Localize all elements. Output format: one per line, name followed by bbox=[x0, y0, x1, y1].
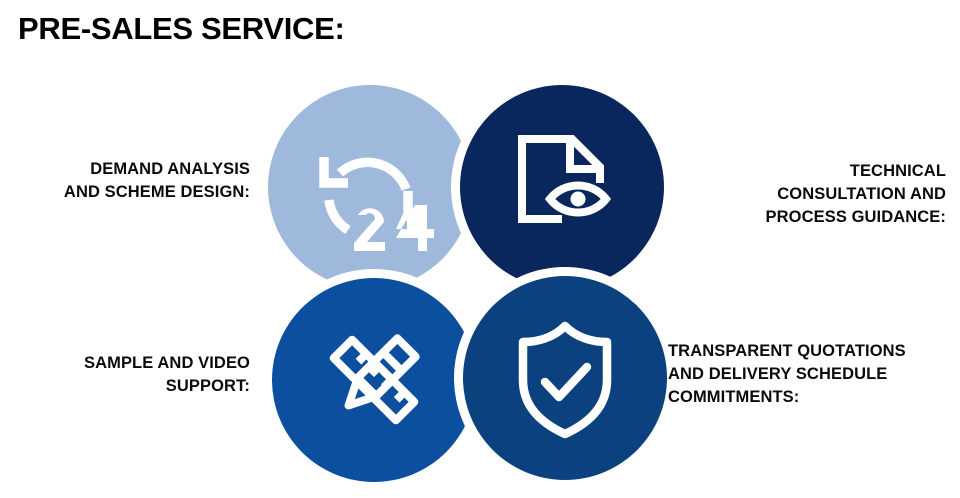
label-transparent-quotations: TRANSPARENT QUOTATIONS AND DELIVERY SCHE… bbox=[668, 340, 960, 408]
circle-sample-video-support[interactable] bbox=[272, 278, 476, 482]
circle-transparent-quotations[interactable] bbox=[463, 276, 667, 480]
circle-cluster bbox=[260, 70, 700, 498]
page-title: PRE-SALES SERVICE: bbox=[18, 12, 345, 46]
circle-demand-analysis[interactable] bbox=[268, 85, 472, 289]
label-technical-consultation: TECHNICAL CONSULTATION AND PROCESS GUIDA… bbox=[714, 160, 946, 228]
label-sample-video-support: SAMPLE AND VIDEO SUPPORT: bbox=[8, 352, 250, 398]
infographic-canvas: PRE-SALES SERVICE: bbox=[0, 0, 960, 498]
label-demand-analysis: DEMAND ANALYSIS AND SCHEME DESIGN: bbox=[8, 158, 250, 204]
